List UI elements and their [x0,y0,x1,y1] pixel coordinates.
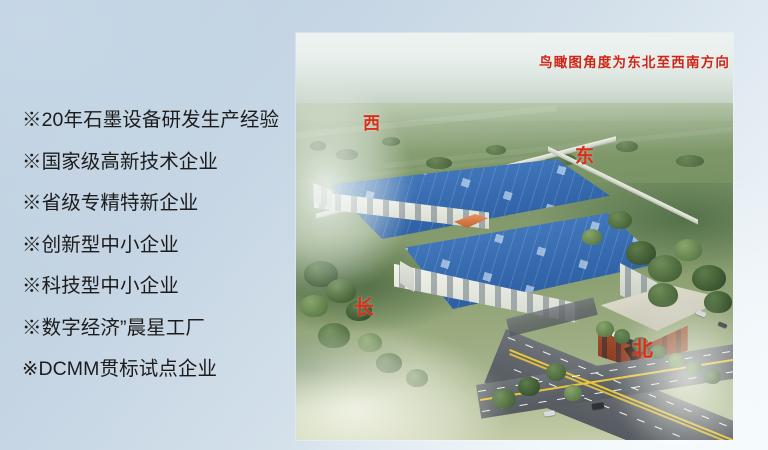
credentials-list: ※20年石墨设备研发生产经验 ※国家级高新技术企业 ※省级专精特新企业 ※创新型… [22,100,294,391]
list-item: ※创新型中小企业 [22,225,294,267]
compass-marker-west: 西 [363,109,380,134]
list-item: ※科技型中小企业 [22,266,294,308]
list-item: ※数字经济”晨星工厂 [22,308,294,350]
list-item: ※20年石墨设备研发生产经验 [22,100,294,142]
list-item: ※DCMM贯标试点企业 [22,349,294,391]
aerial-factory-photo: 鸟瞰图角度为东北至西南方向 西 东 长 北 [296,33,733,440]
right-haze [573,283,733,440]
compass-marker-north: 北 [632,333,653,363]
slide-canvas: ※20年石墨设备研发生产经验 ※国家级高新技术企业 ※省级专精特新企业 ※创新型… [0,0,768,450]
list-item: ※省级专精特新企业 [22,183,294,225]
compass-marker-east: 东 [575,141,594,168]
list-item: ※国家级高新技术企业 [22,142,294,184]
photo-caption: 鸟瞰图角度为东北至西南方向 [539,51,730,71]
dimension-marker-length: 长 [354,291,374,320]
